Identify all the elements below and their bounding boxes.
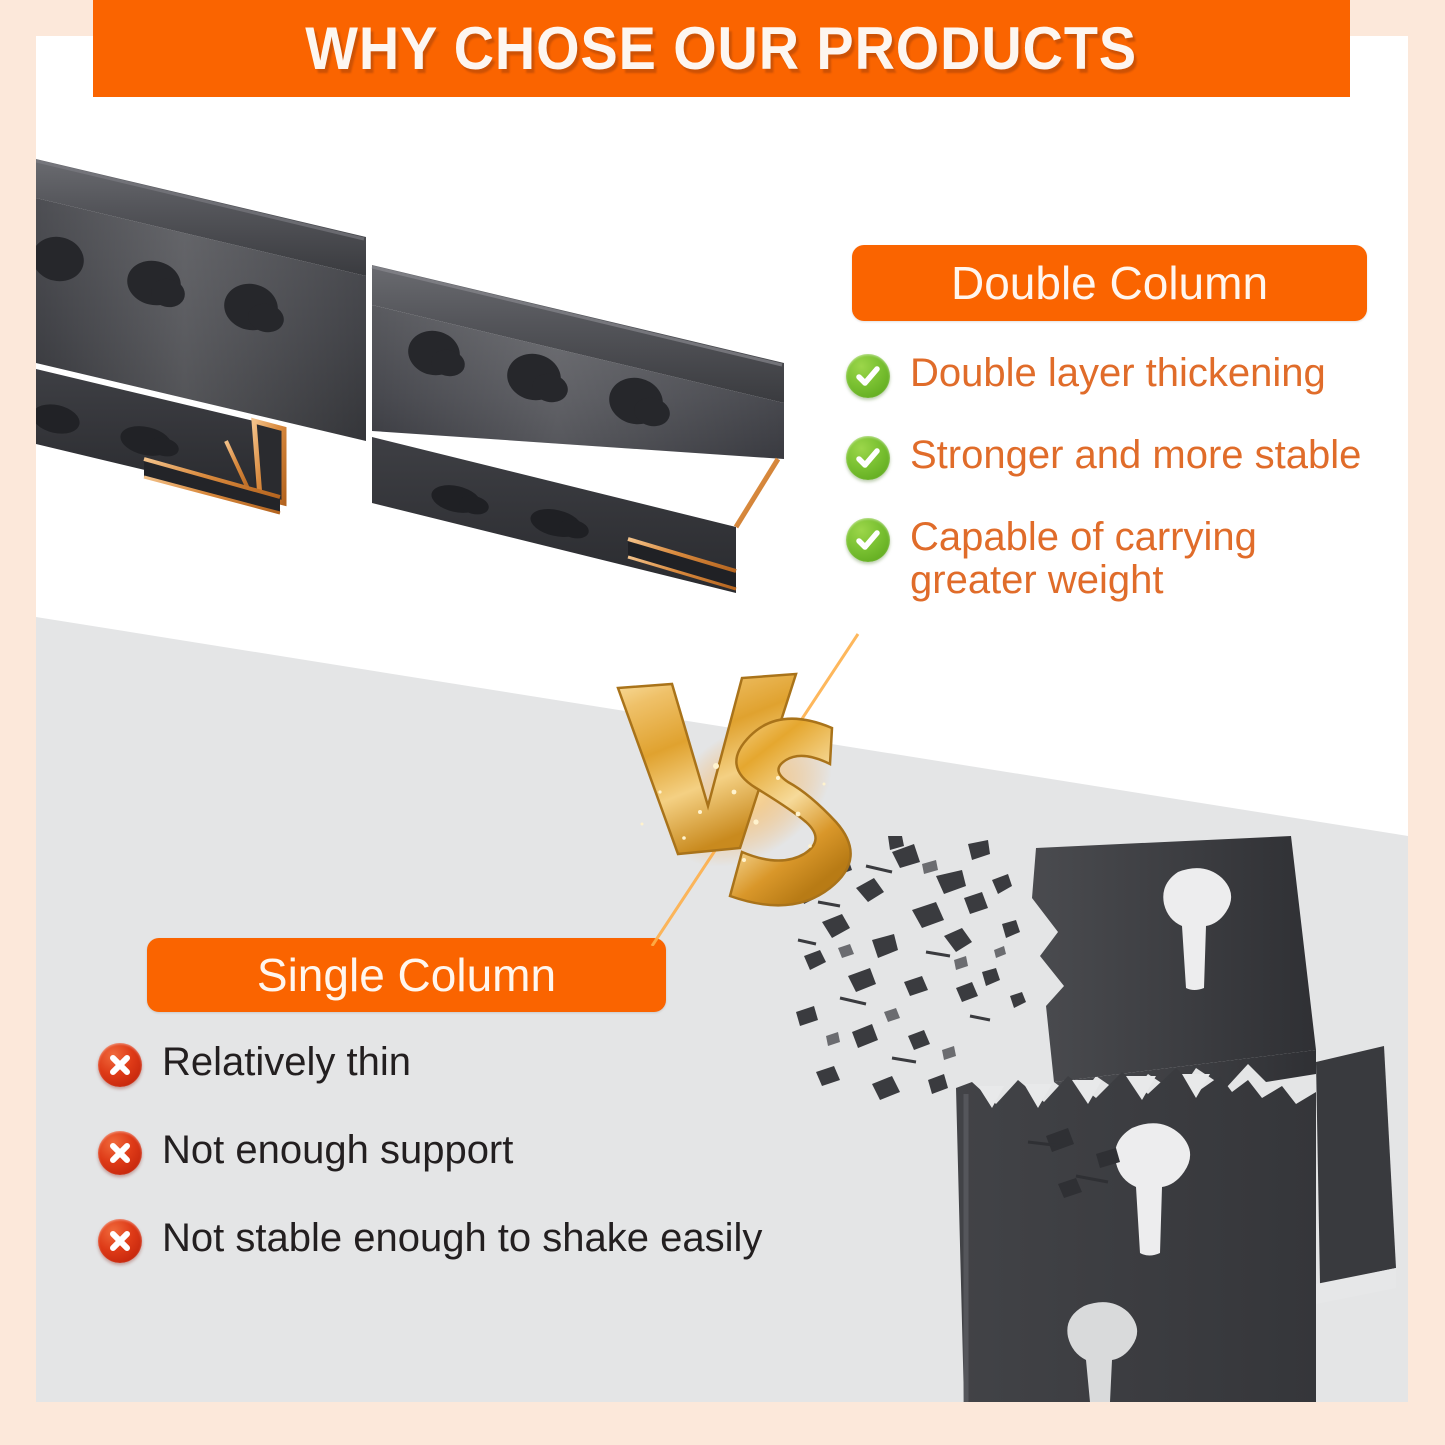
list-item: Relatively thin: [98, 1041, 898, 1087]
double-column-badge: Double Column: [852, 245, 1367, 321]
x-circle-icon: [98, 1131, 142, 1175]
single-column-badge: Single Column: [147, 938, 666, 1012]
check-circle-icon: [846, 354, 890, 398]
list-item-label: Not stable enough to shake easily: [162, 1217, 762, 1260]
header-banner: WHY CHOSE OUR PRODUCTS: [93, 0, 1350, 97]
list-item-label: Stronger and more stable: [910, 434, 1361, 477]
list-item: Double layer thickening: [846, 352, 1408, 398]
list-item: Not stable enough to shake easily: [98, 1217, 898, 1263]
double-column-badge-label: Double Column: [951, 260, 1268, 306]
list-item-label: Relatively thin: [162, 1041, 411, 1084]
double-column-steel-posts-photo: [36, 141, 836, 621]
list-item: Stronger and more stable: [846, 434, 1408, 480]
poster-content-area: Double Column Double layer thickening S: [36, 36, 1408, 1402]
check-circle-icon: [846, 518, 890, 562]
list-item: Capable of carrying greater weight: [846, 516, 1408, 602]
double-column-benefits-list: Double layer thickening Stronger and mor…: [846, 352, 1408, 638]
page-title: WHY CHOSE OUR PRODUCTS: [306, 19, 1138, 79]
single-column-badge-label: Single Column: [257, 952, 556, 998]
product-comparison-poster: Double Column Double layer thickening S: [0, 0, 1445, 1445]
x-circle-icon: [98, 1043, 142, 1087]
x-circle-icon: [98, 1219, 142, 1263]
list-item-label: Double layer thickening: [910, 352, 1326, 395]
gold-vs-emblem: [596, 616, 926, 946]
list-item-label: Not enough support: [162, 1129, 513, 1172]
list-item: Not enough support: [98, 1129, 898, 1175]
single-column-drawbacks-list: Relatively thin Not enough support Not s…: [98, 1041, 898, 1305]
check-circle-icon: [846, 436, 890, 480]
list-item-label: Capable of carrying greater weight: [910, 516, 1330, 602]
